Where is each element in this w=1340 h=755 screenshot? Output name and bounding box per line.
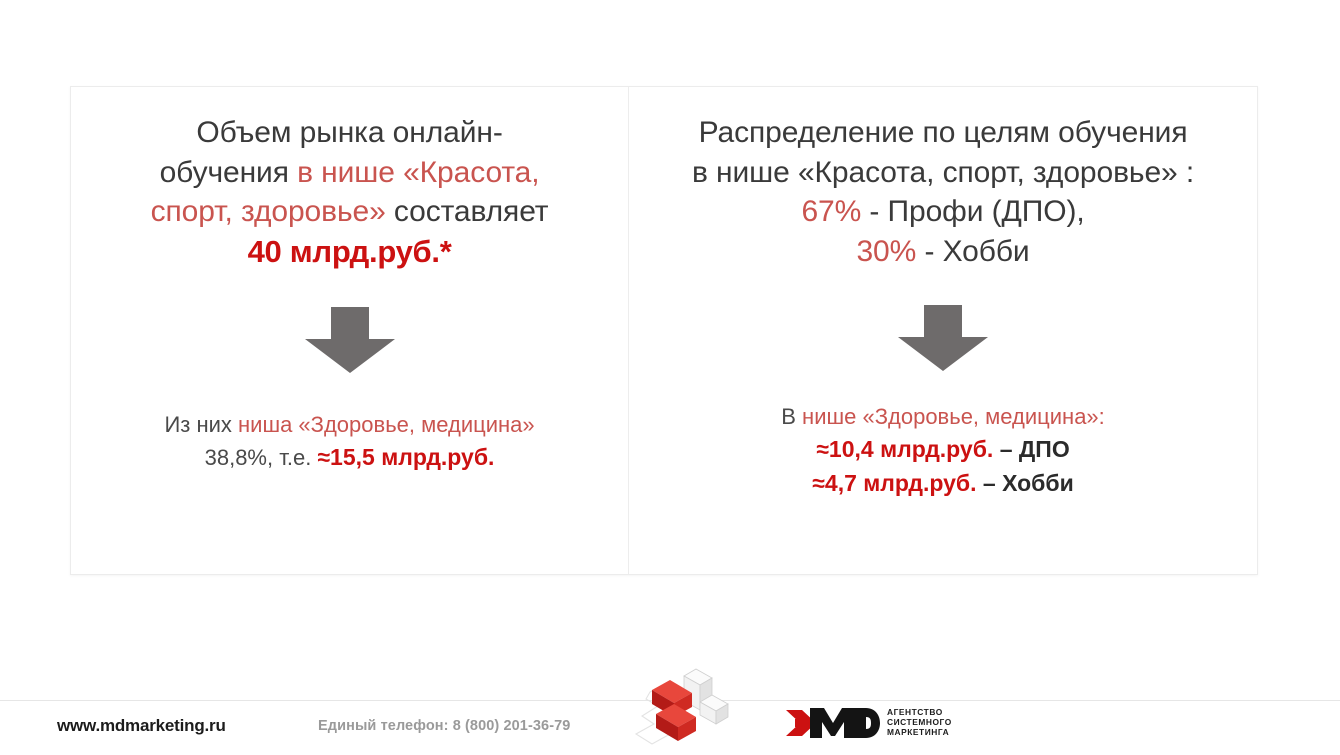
text-run: – Хобби xyxy=(977,470,1074,496)
footer-phone-number: Единый телефон: 8 (800) 201-36-79 xyxy=(318,718,570,734)
text-run: ≈10,4 млрд.руб. xyxy=(816,436,993,462)
text-line-3: ≈4,7 млрд.руб. – Хобби xyxy=(781,467,1105,500)
text-run: спорт, здоровье» xyxy=(151,195,386,228)
down-arrow-icon xyxy=(305,307,395,373)
left-panel-headline: Объем рынка онлайн-обучения в нише «Крас… xyxy=(137,113,563,273)
text-run: 30% xyxy=(856,235,916,268)
text-run: ниша «Здоровье, медицина» xyxy=(238,412,535,437)
text-line-1: Распределение по целям обучения xyxy=(692,113,1194,153)
text-run: 40 млрд.руб.* xyxy=(248,234,452,269)
text-line-2: в нише «Красота, спорт, здоровье» : xyxy=(692,153,1194,193)
text-run: – ДПО xyxy=(993,436,1069,462)
text-run: нише «Здоровье, медицина»: xyxy=(802,404,1105,429)
left-panel: Объем рынка онлайн-обучения в нише «Крас… xyxy=(71,87,628,574)
md-logo-tagline: АГЕНТСТВО СИСТЕМНОГО МАРКЕТИНГА xyxy=(887,708,952,738)
content-card: Объем рынка онлайн-обучения в нише «Крас… xyxy=(70,86,1258,575)
text-line-2: 38,8%, т.е. ≈15,5 млрд.руб. xyxy=(164,441,534,474)
left-arrow-wrap xyxy=(71,307,628,373)
md-logo-tagline-line-3: МАРКЕТИНГА xyxy=(887,728,952,738)
text-run: В xyxy=(781,404,802,429)
left-panel-subtext: Из них ниша «Здоровье, медицина»38,8%, т… xyxy=(164,409,534,474)
text-line-1: Из них ниша «Здоровье, медицина» xyxy=(164,409,534,441)
text-run: обучения xyxy=(160,156,298,189)
text-run: в нише «Красота, спорт, здоровье» : xyxy=(692,156,1194,189)
text-run: в нише «Красота, xyxy=(297,156,539,189)
text-line-4: 30% - Хобби xyxy=(692,232,1194,272)
text-line-1: В нише «Здоровье, медицина»: xyxy=(781,401,1105,433)
text-line-2: обучения в нише «Красота, xyxy=(151,153,549,193)
text-run: 67% xyxy=(801,195,861,228)
right-panel-headline: Распределение по целям обученияв нише «К… xyxy=(678,113,1208,271)
md-logo: АГЕНТСТВО СИСТЕМНОГО МАРКЕТИНГА xyxy=(786,703,952,743)
footer-website-link[interactable]: www.mdmarketing.ru xyxy=(57,716,226,736)
text-line-1: Объем рынка онлайн- xyxy=(151,113,549,153)
text-run: составляет xyxy=(386,195,549,228)
right-panel-subtext: В нише «Здоровье, медицина»:≈10,4 млрд.р… xyxy=(781,401,1105,500)
3d-blocks-icon xyxy=(628,662,740,754)
text-line-3: 67% - Профи (ДПО), xyxy=(692,192,1194,232)
down-arrow-icon xyxy=(898,305,988,371)
text-run: - Хобби xyxy=(916,235,1029,268)
right-panel: Распределение по целям обученияв нише «К… xyxy=(628,87,1257,574)
md-monogram-icon xyxy=(786,706,880,740)
text-run: Из них xyxy=(164,412,238,437)
text-run: - Профи (ДПО), xyxy=(861,195,1084,228)
right-arrow-wrap xyxy=(629,305,1257,371)
text-line-3: спорт, здоровье» составляет xyxy=(151,192,549,232)
text-run: 38,8%, т.е. xyxy=(205,445,318,470)
text-line-4: 40 млрд.руб.* xyxy=(151,232,549,273)
text-run: ≈4,7 млрд.руб. xyxy=(812,470,976,496)
text-run: ≈15,5 млрд.руб. xyxy=(317,444,494,470)
text-run: Объем рынка онлайн- xyxy=(196,116,502,149)
text-run: Распределение по целям обучения xyxy=(699,116,1188,149)
text-line-2: ≈10,4 млрд.руб. – ДПО xyxy=(781,433,1105,466)
